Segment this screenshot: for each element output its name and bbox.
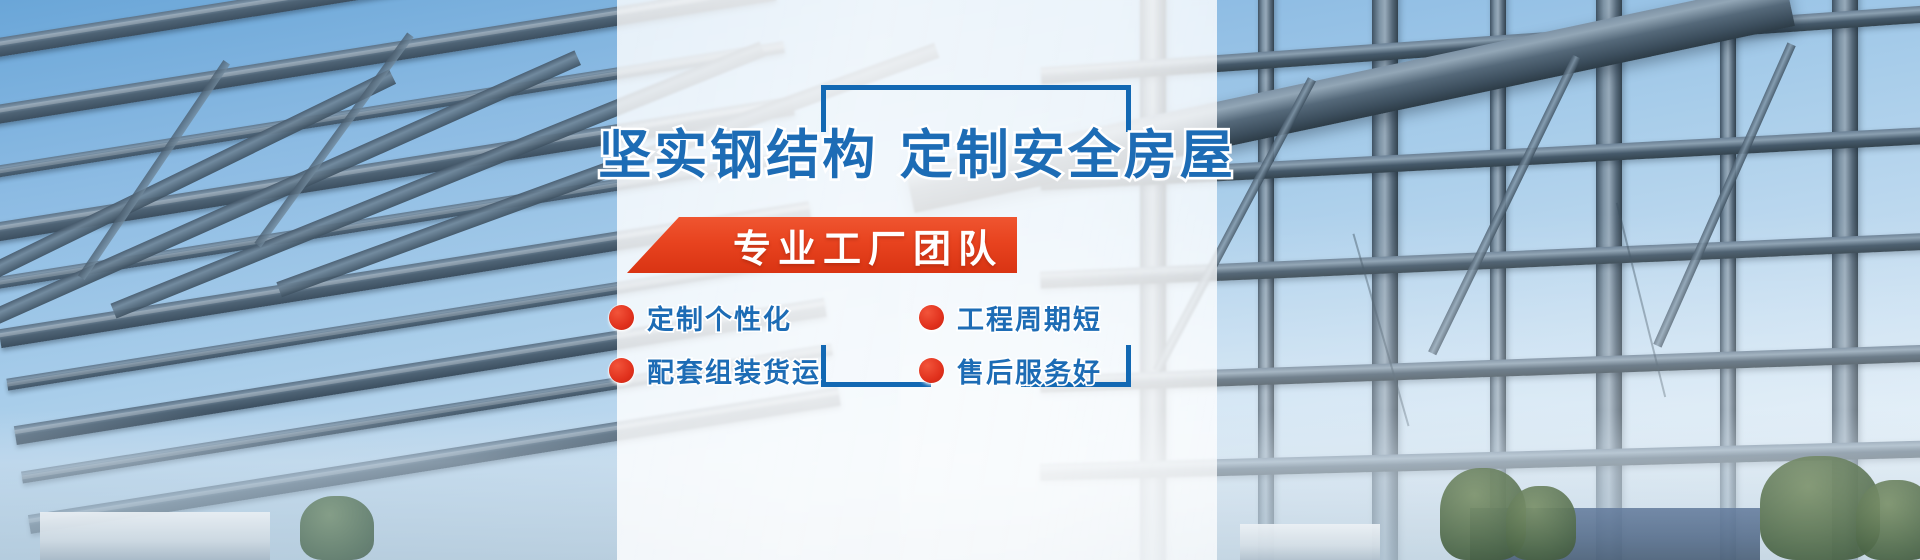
ribbon-badge: 专业工厂团队 [627,217,1017,273]
feature-item: 工程周期短 [919,298,1229,337]
hero-banner: 坚实钢结构 定制安全房屋 专业工厂团队 定制个性化 工程周期短 配套组装货运 售… [0,0,1920,560]
red-dot-icon [609,305,634,330]
feature-label: 工程周期短 [957,298,1102,337]
red-dot-icon [919,305,944,330]
feature-item: 售后服务好 [919,351,1229,390]
feature-list: 定制个性化 工程周期短 配套组装货运 售后服务好 [609,298,1229,390]
feature-label: 定制个性化 [647,298,792,337]
feature-label: 售后服务好 [957,351,1102,390]
banner-content: 坚实钢结构 定制安全房屋 专业工厂团队 定制个性化 工程周期短 配套组装货运 售… [617,0,1217,560]
red-dot-icon [919,358,944,383]
ribbon-label: 专业工厂团队 [733,218,1003,273]
red-dot-icon [609,358,634,383]
feature-label: 配套组装货运 [647,351,821,390]
feature-item: 定制个性化 [609,298,919,337]
feature-item: 配套组装货运 [609,351,919,390]
banner-headline: 坚实钢结构 定制安全房屋 [517,113,1317,189]
